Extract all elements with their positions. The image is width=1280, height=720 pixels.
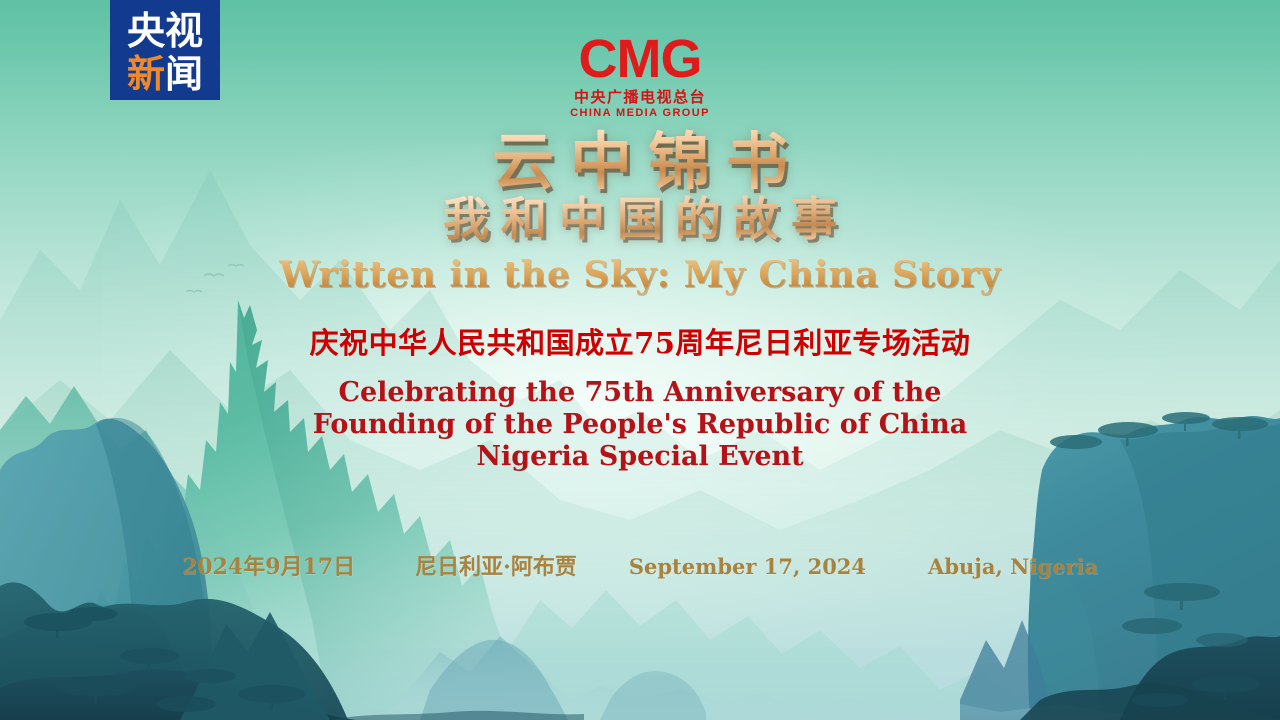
event-text-block: 庆祝中华人民共和国成立75周年尼日利亚专场活动 Celebrating the … <box>0 325 1280 473</box>
event-english-line-1: Celebrating the 75th Anniversary of the <box>313 377 968 409</box>
footer-date-chinese: 2024年9月17日 <box>182 553 355 581</box>
poster-canvas: 央 视 新 闻 CMG 中央广播电视总台 CHINA MEDIA GROUP 云… <box>0 0 1280 720</box>
title-block: 云中锦书 我和中国的故事 Written in the Sky: My Chin… <box>0 128 1280 296</box>
event-headline-english: Celebrating the 75th Anniversary of the … <box>313 377 968 473</box>
footer-location-english: Abuja, Nigeria <box>928 553 1098 581</box>
event-english-line-2: Founding of the People's Republic of Chi… <box>313 409 968 441</box>
footer-location-chinese: 尼日利亚·阿布贾 <box>415 553 577 581</box>
program-subtitle-chinese: 我和中国的故事 <box>431 192 849 246</box>
cmg-chinese-name: 中央广播电视总台 <box>574 89 706 106</box>
footer-date-english: September 17, 2024 <box>629 553 866 581</box>
cmg-logo: CMG 中央广播电视总台 CHINA MEDIA GROUP <box>0 32 1280 120</box>
footer-info-row: 2024年9月17日 尼日利亚·阿布贾 September 17, 2024 A… <box>0 553 1280 581</box>
cmg-wordmark: CMG <box>579 32 702 86</box>
event-english-line-3: Nigeria Special Event <box>313 441 968 473</box>
program-title-chinese: 云中锦书 <box>476 128 804 196</box>
program-title-english: Written in the Sky: My China Story <box>279 254 1001 296</box>
event-headline-chinese: 庆祝中华人民共和国成立75周年尼日利亚专场活动 <box>310 325 971 361</box>
cmg-english-name: CHINA MEDIA GROUP <box>570 107 710 120</box>
